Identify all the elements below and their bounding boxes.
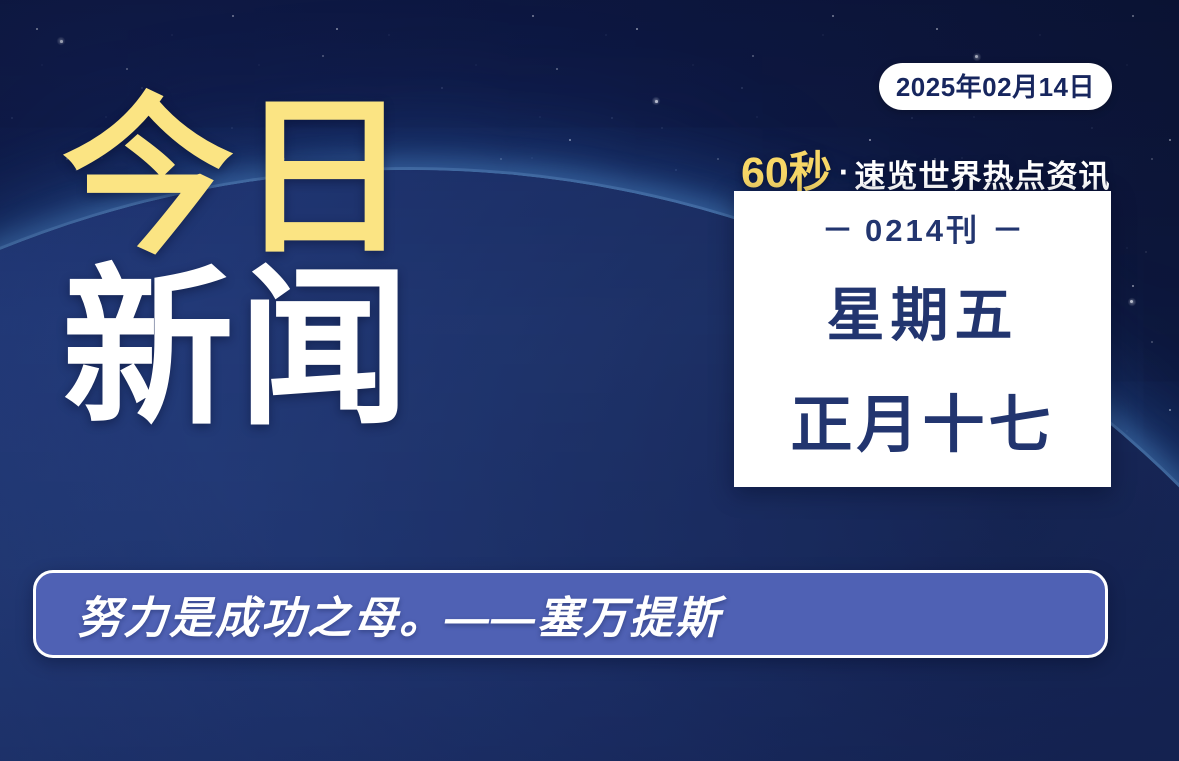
tagline-separator: · — [839, 154, 850, 190]
weekday-label: 星期五 — [826, 268, 1018, 352]
issue-line: －0214刊－ — [810, 205, 1035, 250]
title-line-jinri: 今日 — [62, 96, 414, 261]
tagline-seconds: 60秒 — [741, 149, 832, 197]
quote-bar: 努力是成功之母。——塞万提斯 — [33, 570, 1108, 658]
issue-dash-left: － — [822, 213, 853, 248]
title-line-xinwen: 新闻 — [62, 267, 414, 432]
quote-text: 努力是成功之母。——塞万提斯 — [77, 582, 721, 646]
news-poster: sohu.com 今日 新闻 2025年02月14日 60秒·速览世界热点资讯 — [0, 0, 1179, 761]
page-title: 今日 新闻 — [62, 96, 414, 432]
issue-dash-right: － — [992, 213, 1023, 248]
content-layer: 今日 新闻 2025年02月14日 60秒·速览世界热点资讯 －0214刊－ 星… — [0, 0, 1179, 761]
date-badge: 2025年02月14日 — [879, 63, 1112, 110]
issue-number: 0214刊 — [865, 213, 980, 248]
tagline-subtitle: 速览世界热点资讯 — [855, 159, 1111, 194]
issue-info-card: －0214刊－ 星期五 正月十七 — [734, 191, 1111, 487]
lunar-date-label: 正月十七 — [790, 374, 1054, 464]
